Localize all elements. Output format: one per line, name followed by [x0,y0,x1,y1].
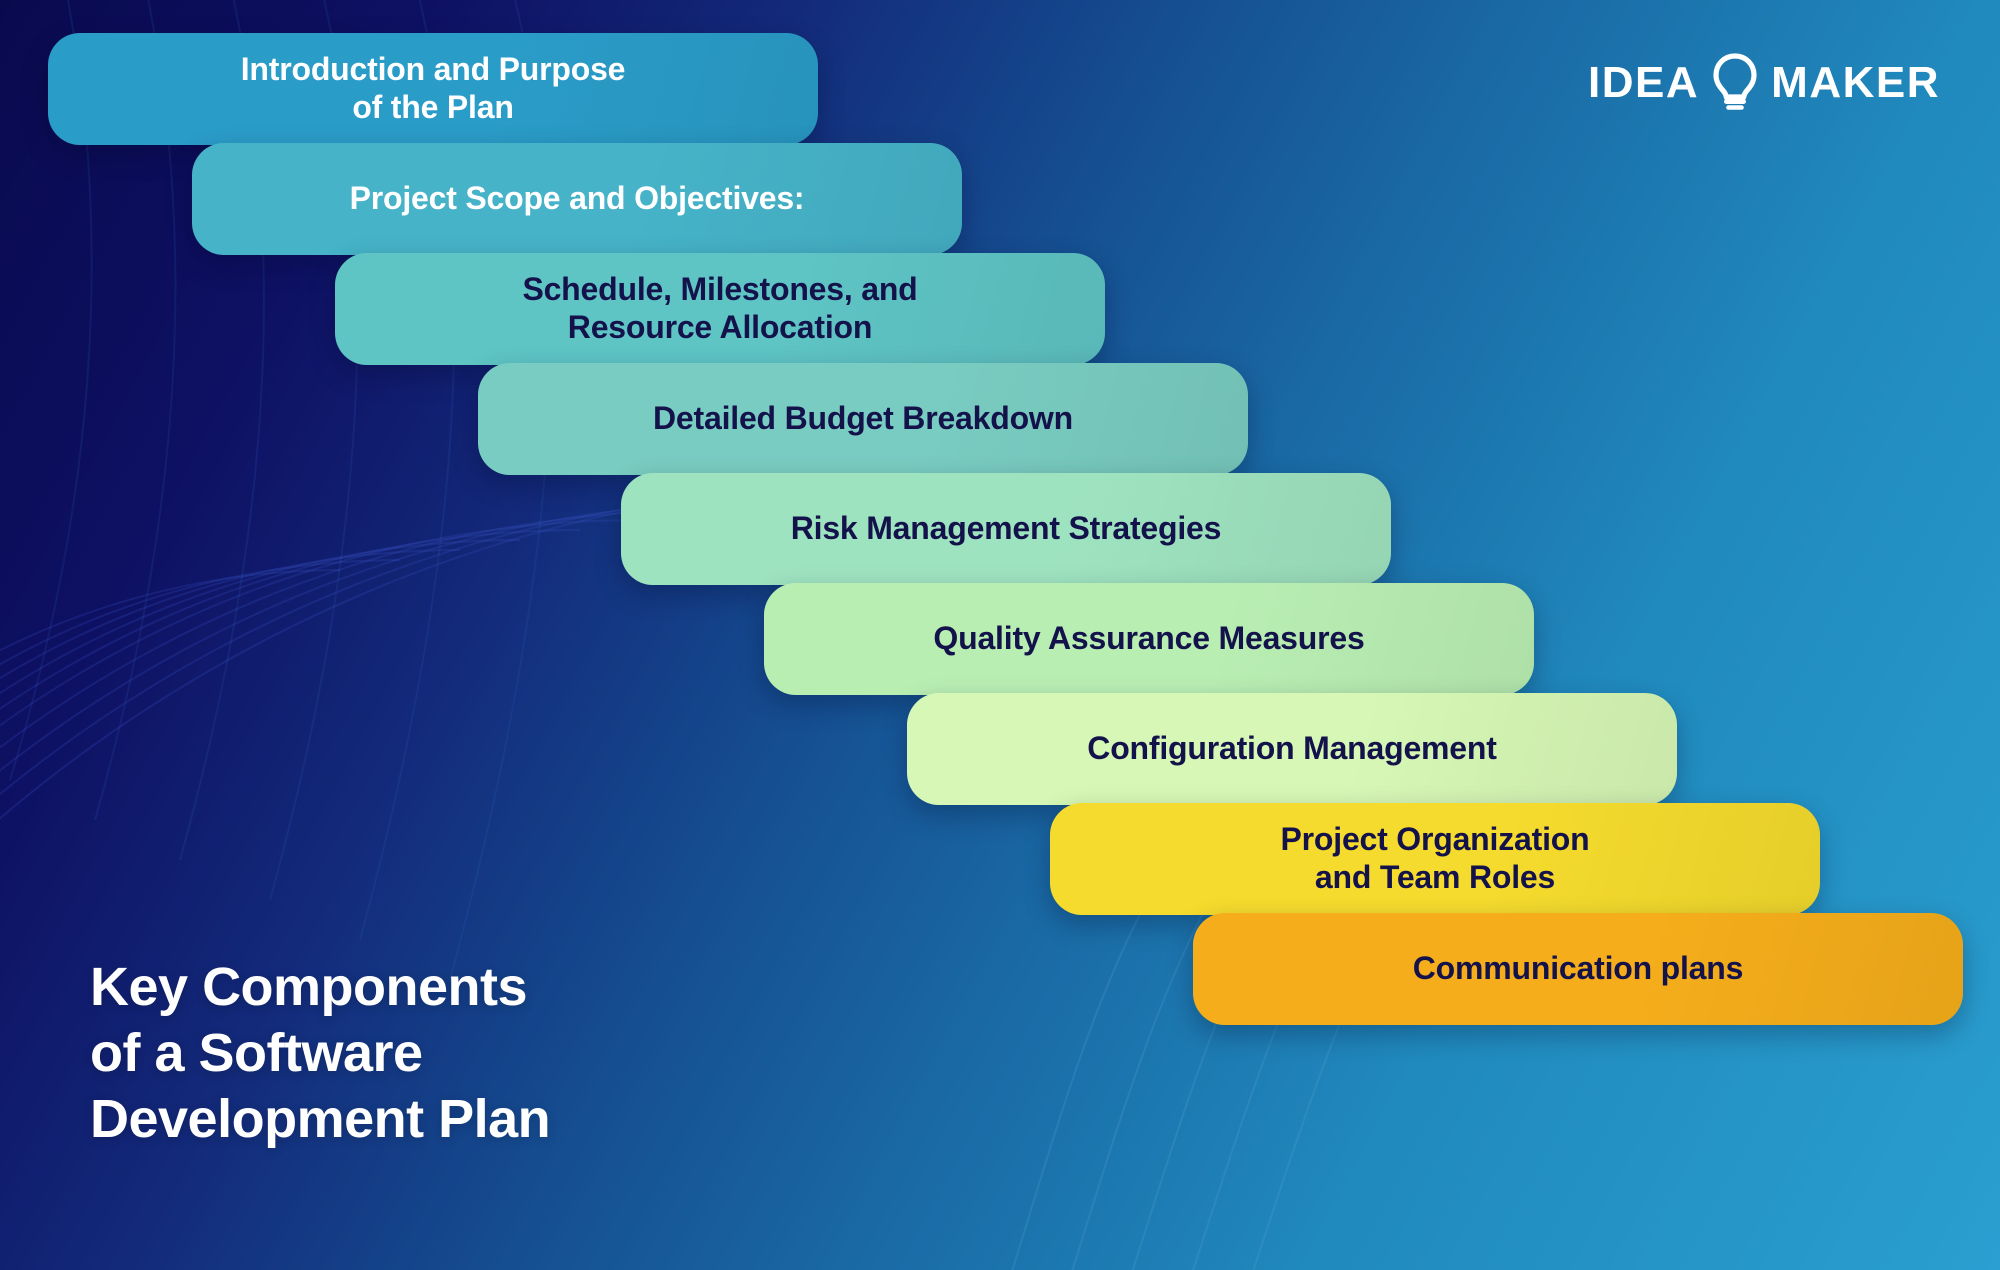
step-card-9-label: Communication plans [1221,950,1935,988]
step-card-9[interactable]: Communication plans [1193,913,1963,1025]
lightbulb-icon [1707,52,1763,114]
step-card-6-label: Quality Assurance Measures [792,620,1506,658]
step-card-3-label: Schedule, Milestones, and Resource Alloc… [363,271,1077,347]
step-card-2-label: Project Scope and Objectives: [220,180,934,218]
brand-logo[interactable]: IDEA MAKER [1588,52,1940,114]
page-title: Key Components of a Software Development… [90,955,730,1153]
step-card-7-label: Configuration Management [935,730,1649,768]
step-card-6[interactable]: Quality Assurance Measures [764,583,1534,695]
step-card-8-label: Project Organization and Team Roles [1078,821,1792,897]
step-card-1[interactable]: Introduction and Purpose of the Plan [48,33,818,145]
logo-word-idea: IDEA [1588,58,1699,108]
step-card-3[interactable]: Schedule, Milestones, and Resource Alloc… [335,253,1105,365]
infographic-canvas: Introduction and Purpose of the Plan Pro… [0,0,2000,1270]
step-card-4[interactable]: Detailed Budget Breakdown [478,363,1248,475]
step-card-4-label: Detailed Budget Breakdown [506,400,1220,438]
logo-word-maker: MAKER [1771,58,1940,108]
step-card-5-label: Risk Management Strategies [649,510,1363,548]
step-card-8[interactable]: Project Organization and Team Roles [1050,803,1820,915]
step-card-5[interactable]: Risk Management Strategies [621,473,1391,585]
step-card-2[interactable]: Project Scope and Objectives: [192,143,962,255]
step-card-1-label: Introduction and Purpose of the Plan [76,51,790,127]
step-card-7[interactable]: Configuration Management [907,693,1677,805]
